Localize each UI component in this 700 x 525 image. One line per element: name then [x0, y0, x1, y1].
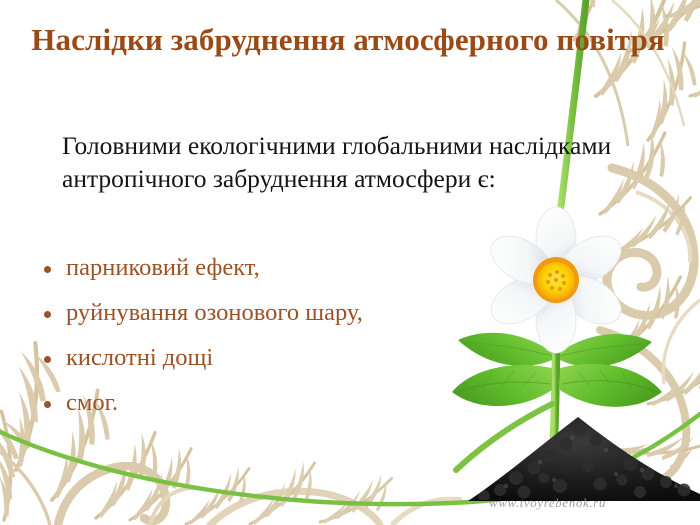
slide-content: Наслідки забруднення атмосферного повітр…	[0, 0, 700, 525]
list-item-label: кислотні дощі	[66, 346, 213, 371]
consequences-list: парниковий ефект, руйнування озонового ш…	[36, 246, 506, 426]
bullet-dot-icon	[44, 311, 51, 318]
list-item-label: руйнування озонового шару,	[66, 301, 363, 326]
list-item-label: смог.	[66, 391, 118, 416]
bullet-dot-icon	[44, 266, 51, 273]
list-item-label: парниковий ефект,	[66, 256, 260, 281]
list-item: парниковий ефект,	[36, 246, 506, 291]
bullet-dot-icon	[44, 356, 51, 363]
list-item: руйнування озонового шару,	[36, 291, 506, 336]
page-title: Наслідки забруднення атмосферного повітр…	[18, 20, 678, 60]
slide-canvas: Наслідки забруднення атмосферного повітр…	[0, 0, 700, 525]
list-item: кислотні дощі	[36, 336, 506, 381]
intro-paragraph: Головними екологічними глобальними наслі…	[36, 129, 622, 195]
bullet-dot-icon	[44, 401, 51, 408]
list-item: смог.	[36, 381, 506, 426]
watermark: www.tvoyrebenok.ru	[489, 495, 606, 511]
